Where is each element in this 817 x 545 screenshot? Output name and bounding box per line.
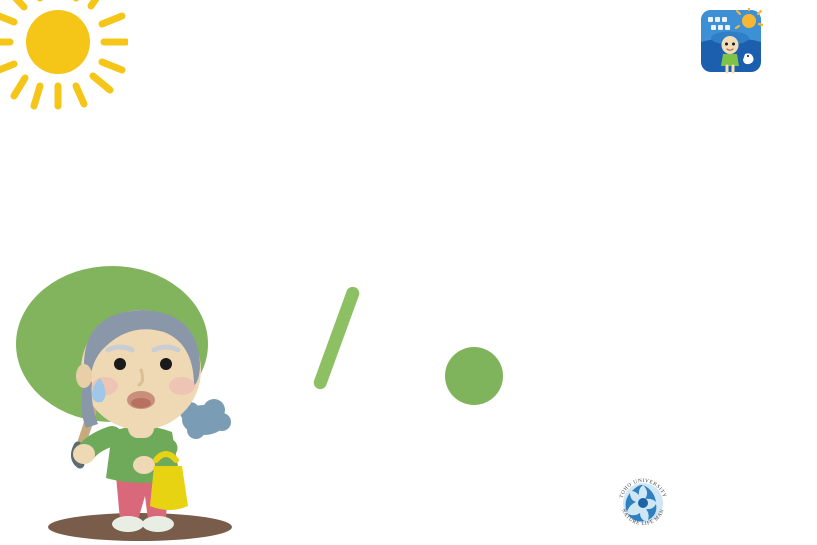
- event-date-block: [252, 276, 552, 404]
- date-separator-slash: [312, 285, 361, 391]
- seminar-poster: TOHO UNIVERSITY NATURE LIFE MAN: [0, 0, 817, 545]
- toho-university-logo: TOHO UNIVERSITY NATURE LIFE MAN: [612, 472, 812, 536]
- ota-city-mascot-badge-icon: [699, 8, 763, 74]
- toho-university-emblem-icon: TOHO UNIVERSITY NATURE LIFE MAN: [612, 472, 674, 534]
- sun-icon: [0, 0, 128, 112]
- weekday-badge: [445, 347, 503, 405]
- elderly-person-with-parasol-illustration: [8, 252, 244, 545]
